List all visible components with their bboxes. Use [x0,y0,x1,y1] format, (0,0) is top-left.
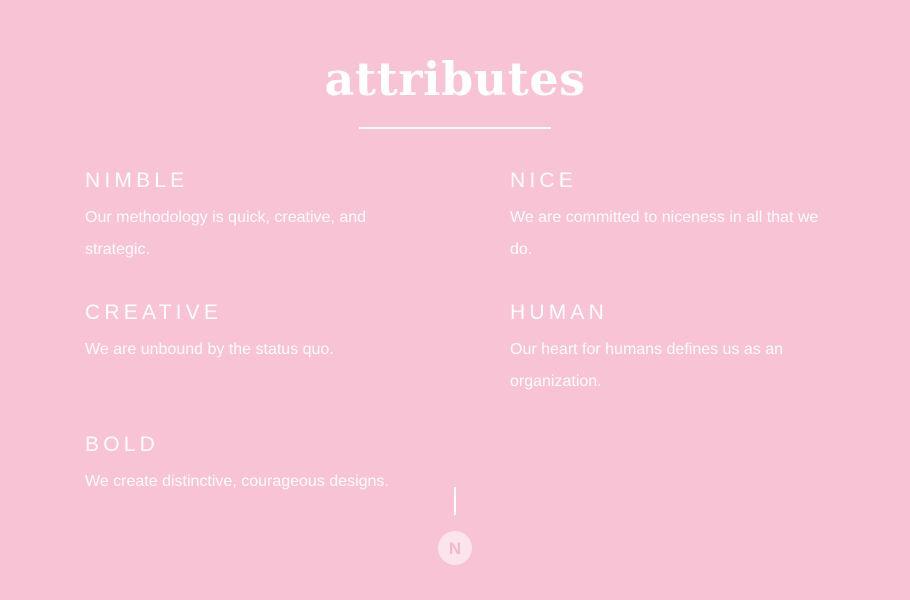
page-title: attributes [0,52,910,106]
attributes-grid: NIMBLE Our methodology is quick, creativ… [85,168,825,532]
attribute-item-nimble: NIMBLE Our methodology is quick, creativ… [85,168,510,300]
brand-badge-letter: N [449,540,461,557]
attribute-heading-nimble: NIMBLE [85,168,510,194]
attribute-item-creative: CREATIVE We are unbound by the status qu… [85,300,510,432]
attribute-item-nice: NICE We are committed to niceness in all… [510,168,825,300]
scroll-indicator[interactable]: N [0,487,910,565]
scroll-line [454,487,456,515]
brand-badge-icon[interactable]: N [438,531,472,565]
attribute-body-nimble: Our methodology is quick, creative, and … [85,202,395,266]
attribute-body-nice: We are committed to niceness in all that… [510,202,820,266]
title-divider [359,127,551,129]
attributes-page: attributes NIMBLE Our methodology is qui… [0,0,910,600]
attribute-heading-creative: CREATIVE [85,300,510,326]
attribute-heading-bold: BOLD [85,432,510,458]
attribute-heading-nice: NICE [510,168,825,194]
attribute-item-human: HUMAN Our heart for humans defines us as… [510,300,825,432]
attribute-heading-human: HUMAN [510,300,825,326]
attribute-body-human: Our heart for humans defines us as an or… [510,334,820,398]
page-title-block: attributes [0,52,910,106]
attribute-body-creative: We are unbound by the status quo. [85,334,395,366]
